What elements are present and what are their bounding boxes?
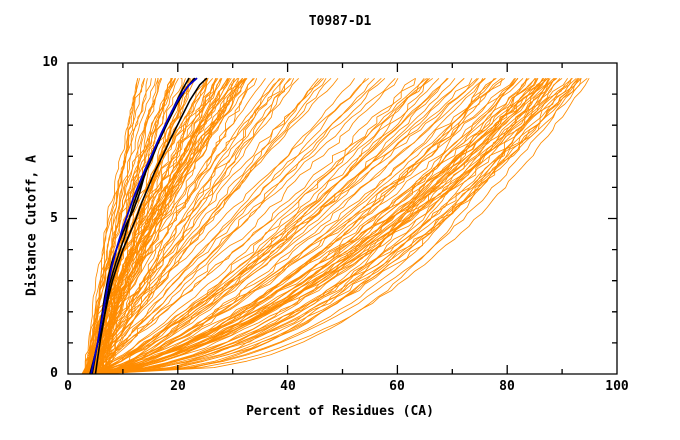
y-tick-label-10: 10 [18, 56, 58, 70]
plot-svg [68, 63, 617, 374]
x-tick-label-80: 80 [487, 379, 527, 394]
x-tick-label-60: 60 [377, 379, 417, 394]
x-tick-label-40: 40 [268, 379, 308, 394]
x-axis-label: Percent of Residues (CA) [0, 404, 680, 419]
x-tick-label-0: 0 [48, 379, 88, 394]
x-tick-label-100: 100 [597, 379, 637, 394]
x-tick-label-20: 20 [158, 379, 198, 394]
page-title: T0987-D1 [0, 14, 680, 29]
ensemble-curves-layer [82, 79, 589, 374]
y-tick-label-0: 0 [18, 367, 58, 381]
chart-figure: T0987-D1 0 20 40 60 80 100 0 5 10 Percen… [0, 0, 680, 440]
y-axis-label: Distance Cutoff, A [25, 106, 40, 346]
plot-area [68, 63, 617, 374]
